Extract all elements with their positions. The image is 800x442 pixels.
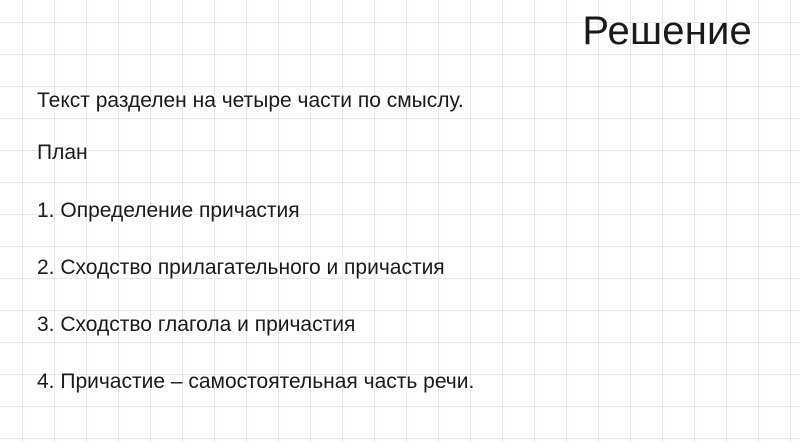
list-item: 1. Определение причастия bbox=[37, 198, 767, 224]
list-item-number: 2. bbox=[37, 256, 55, 279]
page-title: Решение bbox=[582, 8, 752, 54]
list-item-label: Сходство прилагательного и причастия bbox=[60, 256, 444, 279]
list-item-number: 3. bbox=[37, 313, 55, 336]
list-item-label: Сходство глагола и причастия bbox=[60, 313, 355, 336]
list-item-label: Причастие – самостоятельная часть речи. bbox=[60, 370, 474, 393]
plan-heading: План bbox=[37, 140, 767, 166]
list-item-number: 1. bbox=[37, 199, 55, 222]
plan-list: 1. Определение причастия 2. Сходство при… bbox=[37, 198, 767, 395]
list-item-number: 4. bbox=[37, 370, 55, 393]
list-item: 3. Сходство глагола и причастия bbox=[37, 312, 767, 338]
solution-body: Текст разделен на четыре части по смыслу… bbox=[37, 88, 767, 395]
list-item: 2. Сходство прилагательного и причастия bbox=[37, 255, 767, 281]
list-item: 4. Причастие – самостоятельная часть реч… bbox=[37, 369, 767, 395]
title-row: Решение bbox=[582, 8, 752, 54]
list-item-label: Определение причастия bbox=[60, 199, 299, 222]
intro-paragraph: Текст разделен на четыре части по смыслу… bbox=[37, 88, 767, 114]
worksheet-page: Решение Текст разделен на четыре части п… bbox=[0, 0, 800, 442]
